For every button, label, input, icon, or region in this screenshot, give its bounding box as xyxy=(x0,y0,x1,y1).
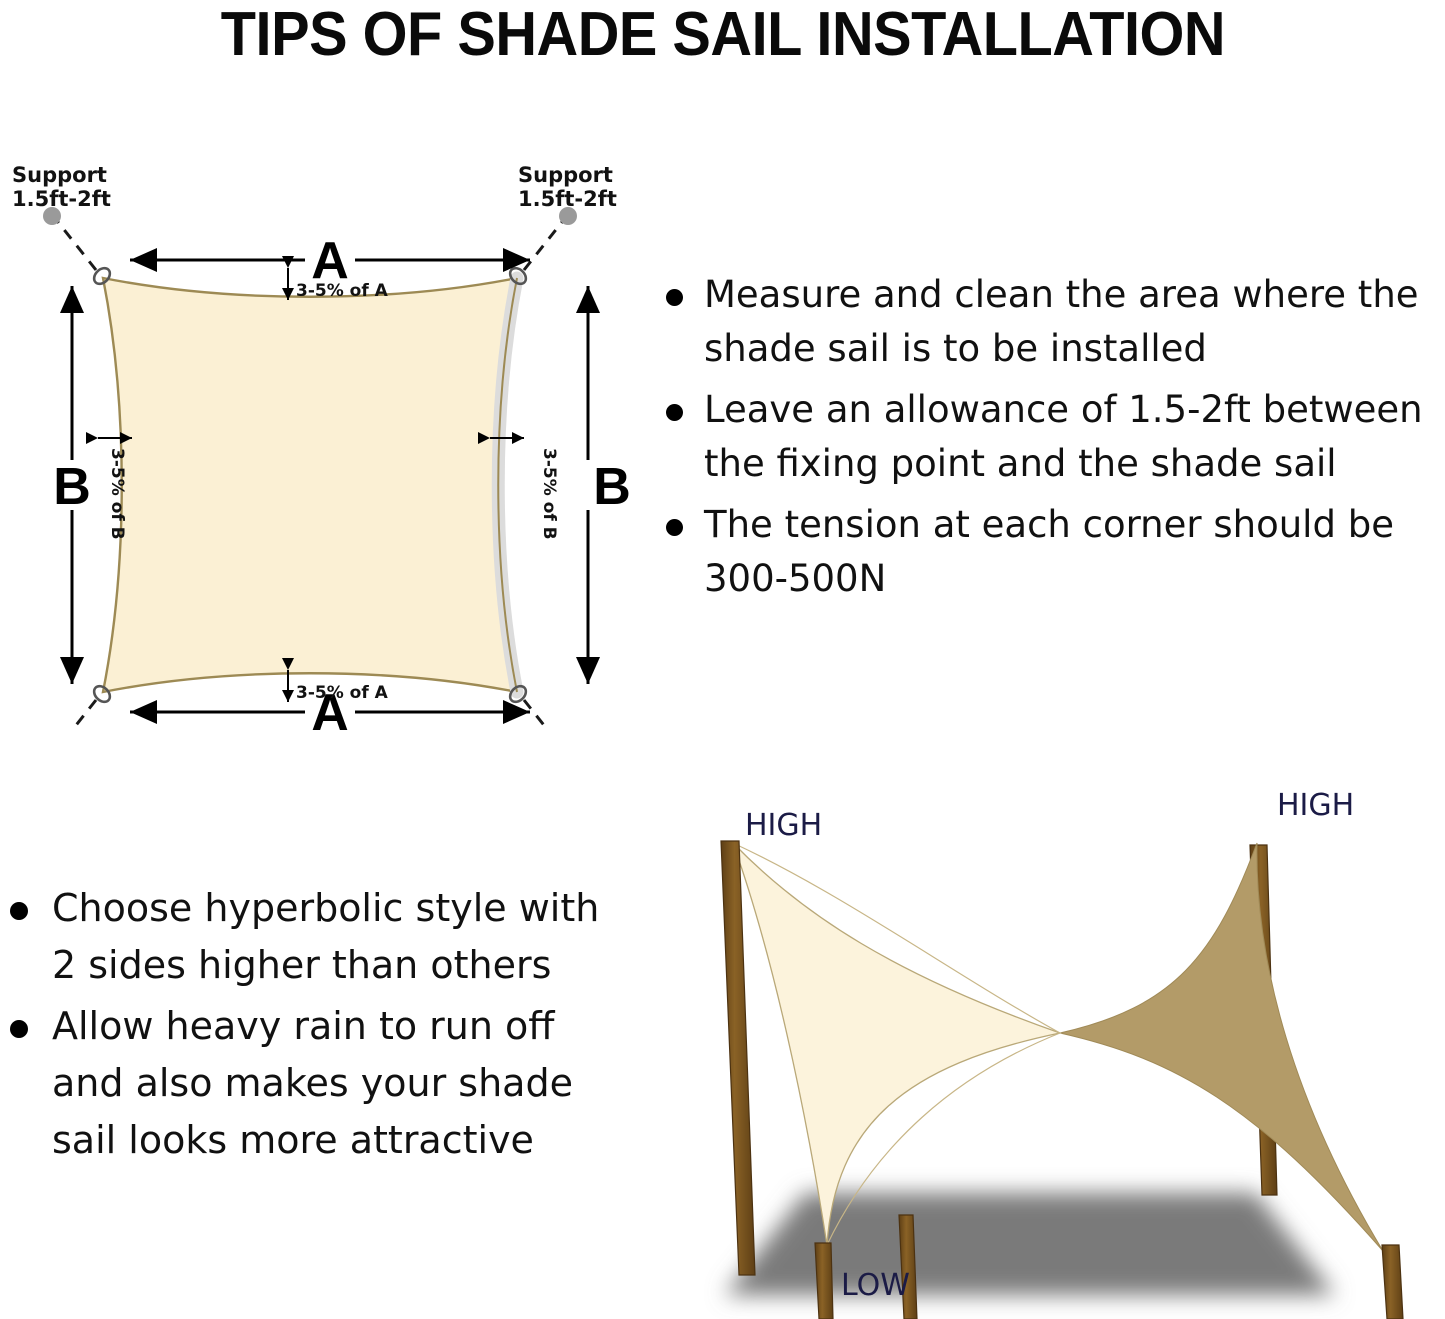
tips-left-list: Choose hyperbolic style with 2 sides hig… xyxy=(0,880,625,1169)
support-label-text: Support xyxy=(518,163,613,187)
tips-list-right: Measure and clean the area where the sha… xyxy=(648,268,1445,612)
list-item-label: Allow heavy rain to run off and also mak… xyxy=(52,1004,573,1162)
list-item: Leave an allowance of 1.5-2ft between th… xyxy=(648,383,1445,492)
curve-callout-right-label: 3-5% of B xyxy=(539,448,559,540)
support-label-value: 1.5ft-2ft xyxy=(12,187,111,211)
bullet-icon xyxy=(666,289,683,306)
list-item-label: Measure and clean the area where the sha… xyxy=(704,273,1419,370)
page-title: TIPS OF SHADE SAIL INSTALLATION xyxy=(220,4,1224,66)
list-item: Choose hyperbolic style with 2 sides hig… xyxy=(0,880,625,994)
dimension-label-b-right: B xyxy=(593,458,631,516)
bullet-icon xyxy=(10,1020,28,1038)
curve-callout-top-label: 3-5% of A xyxy=(296,281,389,301)
sail-shape xyxy=(103,278,517,692)
label-high-left: HIGH xyxy=(745,808,822,843)
support-label-top-left: Support 1.5ft-2ft xyxy=(12,163,111,211)
list-item-label: Leave an allowance of 1.5-2ft between th… xyxy=(704,388,1423,485)
support-label-text: Support xyxy=(12,163,107,187)
tips-list-left: Choose hyperbolic style with 2 sides hig… xyxy=(0,880,625,1173)
list-item: Measure and clean the area where the sha… xyxy=(648,268,1445,377)
hyperbolic-sail-diagram: HIGH HIGH LOW LOW xyxy=(655,775,1445,1319)
tips-right-list: Measure and clean the area where the sha… xyxy=(648,268,1445,606)
sail-panel-back xyxy=(1060,843,1383,1251)
list-item-label: The tension at each corner should be 300… xyxy=(704,503,1394,600)
rectangular-sail-diagram: Support 1.5ft-2ft Support 1.5ft-2ft Supp… xyxy=(0,160,660,730)
bullet-icon xyxy=(666,404,683,421)
bullet-icon xyxy=(10,902,28,920)
label-high-right: HIGH xyxy=(1277,788,1354,823)
dimension-b-left: B xyxy=(53,286,91,684)
bullet-icon xyxy=(666,519,683,536)
dimension-label-b-left: B xyxy=(53,458,91,516)
support-label-value: 1.5ft-2ft xyxy=(518,187,617,211)
title-bar: TIPS OF SHADE SAIL INSTALLATION xyxy=(0,0,1445,70)
list-item: Allow heavy rain to run off and also mak… xyxy=(0,998,625,1169)
list-item: The tension at each corner should be 300… xyxy=(648,498,1445,607)
curve-callout-left: 3-5% of B xyxy=(98,438,132,540)
list-item-label: Choose hyperbolic style with 2 sides hig… xyxy=(52,886,599,987)
curve-callout-left-label: 3-5% of B xyxy=(107,448,127,540)
curve-callout-bottom-label: 3-5% of A xyxy=(296,683,389,703)
dimension-b-right: B xyxy=(588,286,631,684)
support-label-top-right: Support 1.5ft-2ft xyxy=(518,163,617,211)
label-low-left: LOW xyxy=(841,1268,910,1303)
sail-panel-front xyxy=(733,843,1060,1245)
